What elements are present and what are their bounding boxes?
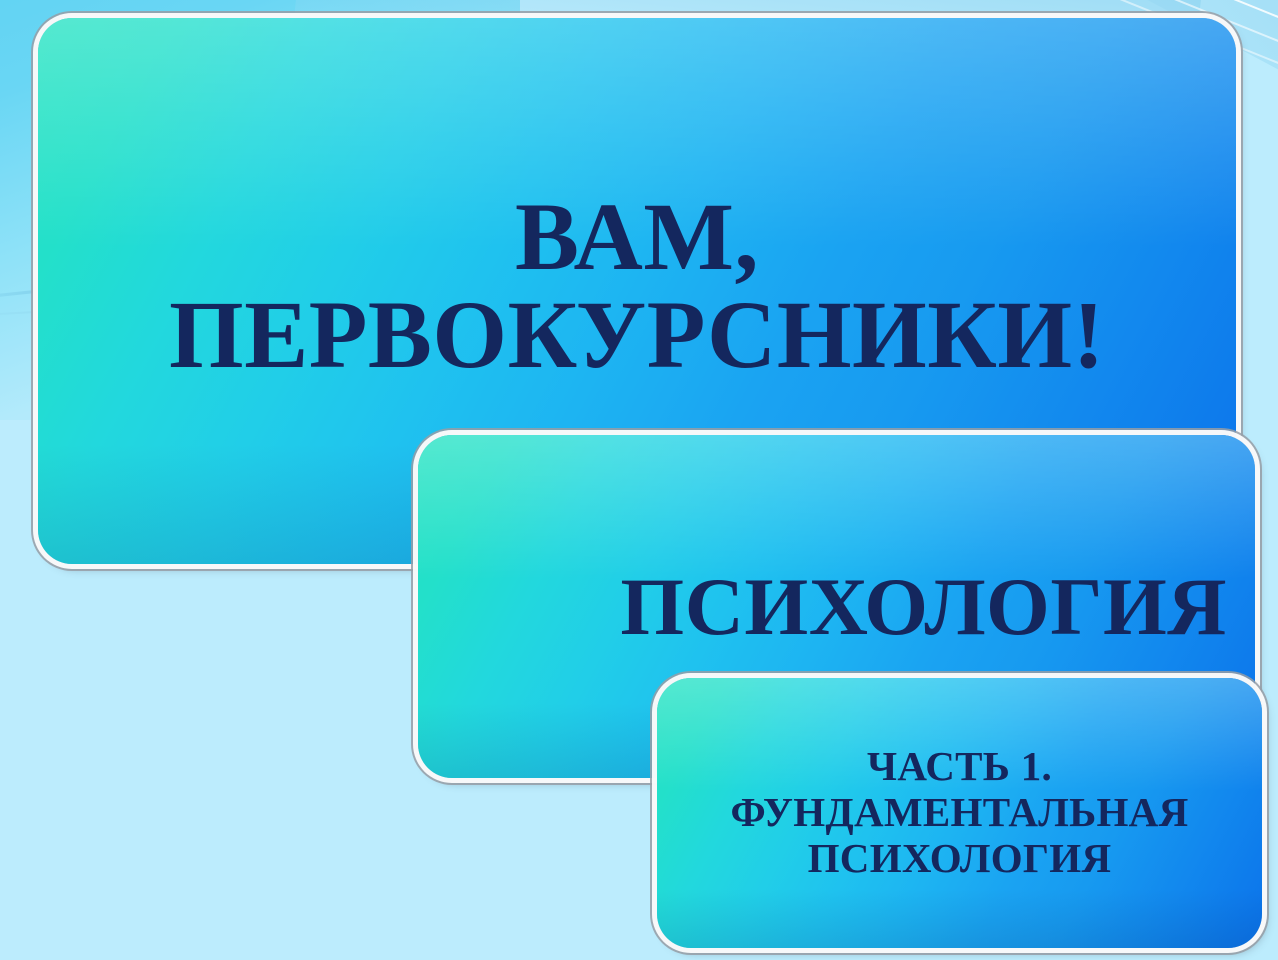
part-card-text: ЧАСТЬ 1. ФУНДАМЕНТАЛЬНАЯ ПСИХОЛОГИЯ xyxy=(657,744,1262,882)
presentation-slide: ВАМ, ПЕРВОКУРСНИКИ! ПСИХОЛОГИЯ ЧАСТЬ 1. … xyxy=(0,0,1278,960)
part-card: ЧАСТЬ 1. ФУНДАМЕНТАЛЬНАЯ ПСИХОЛОГИЯ xyxy=(657,678,1262,948)
title-card-text: ВАМ, ПЕРВОКУРСНИКИ! xyxy=(38,188,1236,394)
subject-card-text: ПСИХОЛОГИЯ xyxy=(418,565,1255,649)
